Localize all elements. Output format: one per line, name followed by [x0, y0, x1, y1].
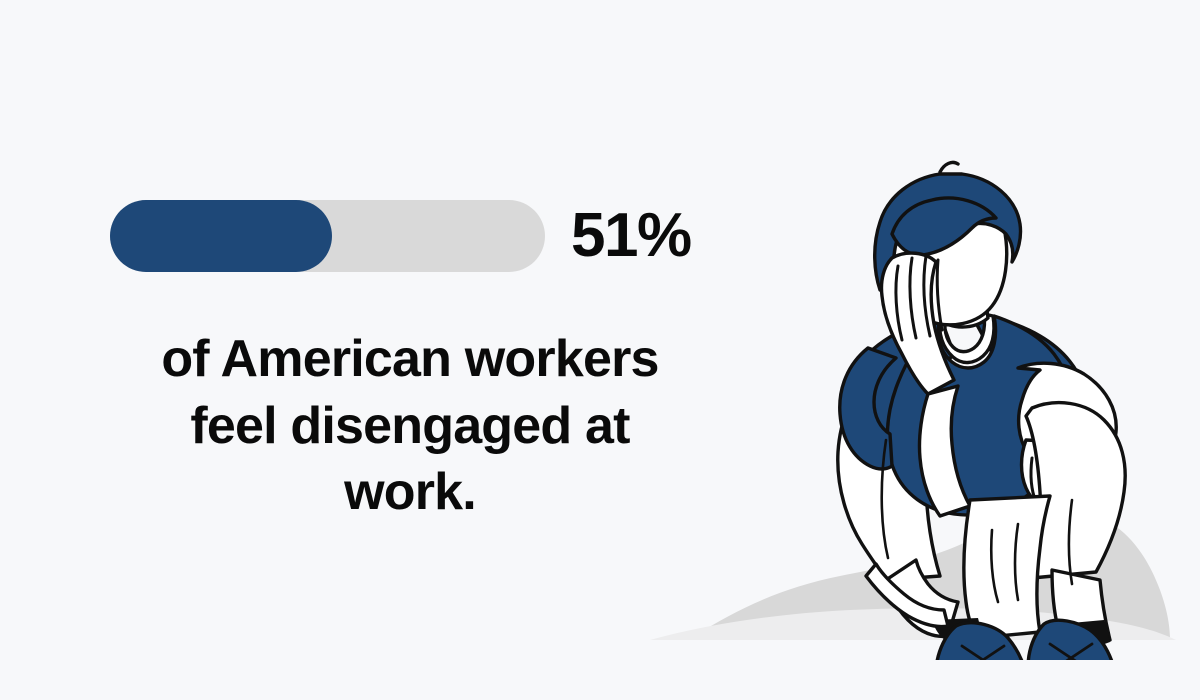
hair-cowlick: [940, 162, 958, 172]
progress-bar-row: 51%: [110, 190, 730, 282]
person-illustration-svg: [640, 140, 1200, 660]
headline-text: of American workers feel disengaged at w…: [110, 326, 710, 526]
headline-line-3: work.: [110, 459, 710, 526]
right-shin-pants: [964, 496, 1050, 638]
progress-bar-track: [110, 200, 545, 272]
headline-line-2: feel disengaged at: [110, 393, 710, 460]
headline-line-1: of American workers: [110, 326, 710, 393]
progress-bar-fill: [110, 200, 332, 272]
illustration-seated-person-facepalm: [640, 140, 1200, 660]
infographic-canvas: 51% of American workers feel disengaged …: [0, 0, 1200, 700]
person-figure-group: [838, 162, 1125, 660]
stat-block: 51% of American workers feel disengaged …: [110, 190, 730, 526]
